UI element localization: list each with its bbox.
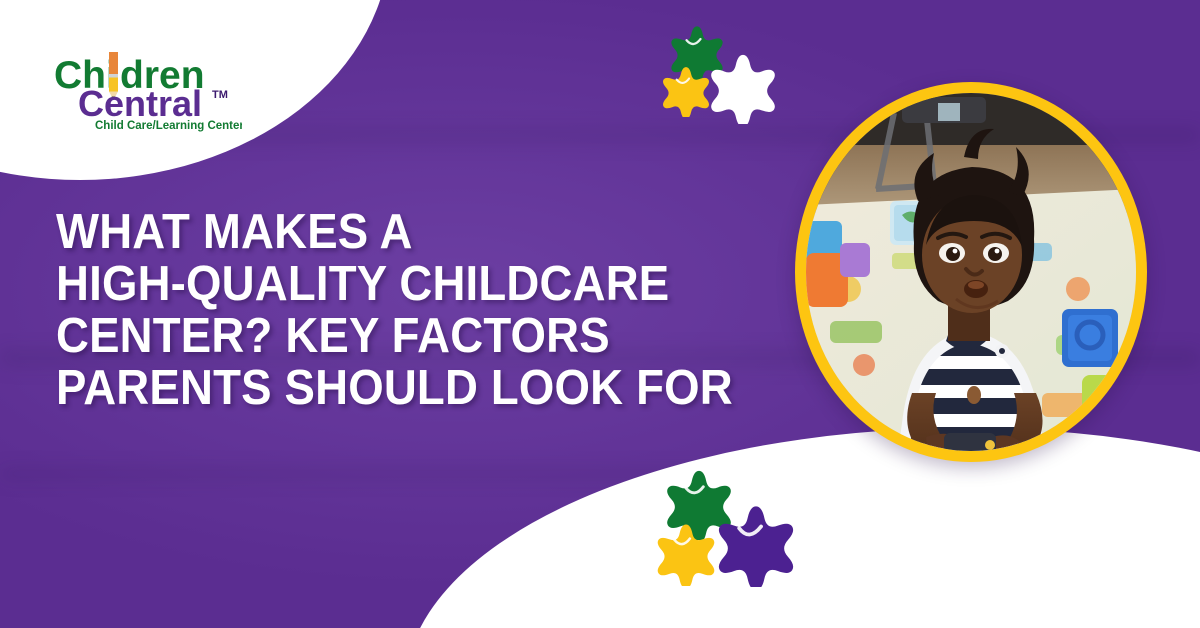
logo-trademark: TM <box>212 89 228 101</box>
star-bottom-yellow-icon <box>654 522 718 586</box>
headline: WHAT MAKES A HIGH-QUALITY CHILDCARE CENT… <box>56 206 707 414</box>
logo-tagline: Child Care/Learning Center <box>95 120 242 132</box>
headline-line: HIGH-QUALITY CHILDCARE <box>56 258 707 310</box>
star-bottom-purple-icon <box>714 503 798 587</box>
photo-circle-frame <box>795 82 1147 462</box>
star-top-white-icon <box>707 52 779 124</box>
star-top-yellow-icon <box>660 65 712 117</box>
headline-line: CENTER? KEY FACTORS <box>56 310 707 362</box>
child-photo <box>806 93 1136 451</box>
headline-line: WHAT MAKES A <box>56 206 707 258</box>
logo-children-central[interactable]: Chi dren Central TM Child Care/Learning … <box>52 48 242 136</box>
logo-word-central: Central <box>78 83 202 124</box>
headline-line: PARENTS SHOULD LOOK FOR <box>56 362 707 414</box>
banner: Chi dren Central TM Child Care/Learning … <box>0 0 1200 628</box>
